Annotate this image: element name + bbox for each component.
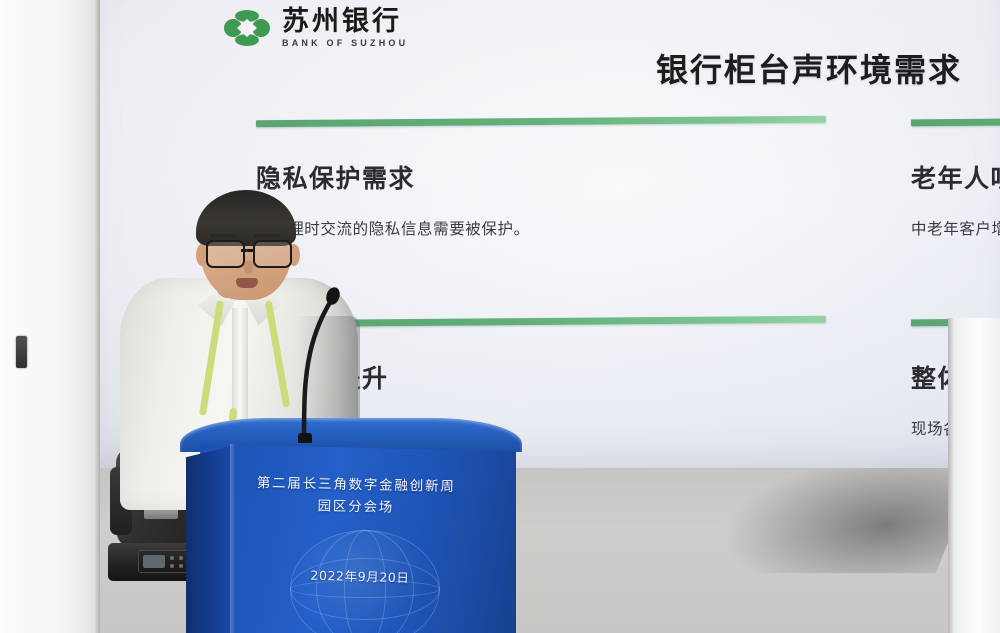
slide-title: 银行柜台声环境需求 (656, 45, 962, 91)
card-rule (256, 116, 826, 127)
speaker-nose (244, 260, 253, 274)
podium-side-panel (186, 446, 232, 633)
speaker-mouth (236, 278, 258, 288)
brand-logo-lockup: 苏州银行 BANK OF SUZHOU (224, 8, 408, 48)
brand-name-cn: 苏州银行 (282, 8, 408, 35)
podium: 第二届长三角数字金融创新周 园区分会场 2022年9月20日 (186, 418, 516, 633)
lens-left (206, 240, 245, 268)
card-rule (911, 117, 1000, 127)
stage-light-display (143, 555, 165, 568)
eyebrow-right (254, 234, 280, 238)
wall-switch-plate[interactable] (16, 336, 27, 368)
card-body: 中老年客户增多， (911, 217, 1000, 239)
brand-name-en: BANK OF SUZHOU (282, 39, 408, 48)
podium-front-panel (194, 444, 516, 633)
podium-corner-highlight (230, 444, 235, 633)
podium-title-line1: 第二届长三角数字金融创新周 (246, 472, 466, 498)
eyebrow-left (210, 234, 236, 238)
card-heading: 隐私保护需求 (256, 159, 826, 195)
lens-right (253, 240, 292, 268)
glasses-bridge (241, 249, 253, 252)
card-heading: 老年人听力衰 (911, 159, 1000, 195)
podium-title-line2: 园区分会场 (246, 494, 466, 520)
podium-event-title: 第二届长三角数字金融创新周 园区分会场 (246, 472, 467, 521)
right-wall-column (948, 318, 1000, 633)
suzhou-bank-diamond-logo-icon (224, 10, 270, 46)
conference-photo-scene: 苏州银行 BANK OF SUZHOU 银行柜台声环境需求 隐私保护需求 务办理… (0, 0, 1000, 633)
slide-card-elderly-hearing: 老年人听力衰 中老年客户增多， (911, 118, 1000, 239)
left-wall-partition (0, 0, 100, 633)
gooseneck-microphone-icon (288, 283, 348, 443)
